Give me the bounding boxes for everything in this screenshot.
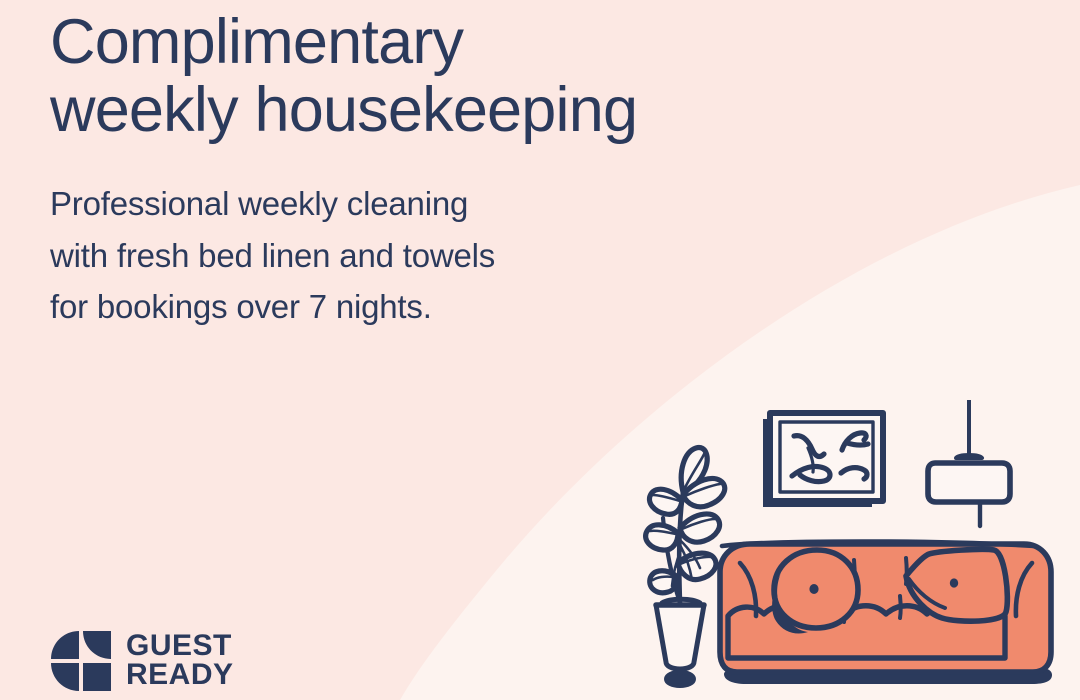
brand-wordmark: GUEST READY: [126, 632, 234, 690]
sofa-icon: [720, 542, 1052, 685]
guestready-logo-mark: [50, 630, 112, 692]
potted-plant-icon: [646, 448, 725, 686]
round-cushion-icon: [772, 550, 858, 634]
framed-wall-art-icon: [763, 413, 883, 507]
logo-line-1: GUEST: [126, 632, 234, 661]
copy-block: Complimentary weekly housekeeping Profes…: [50, 8, 690, 332]
pendant-lamp-icon: [928, 400, 1010, 526]
logo-line-2: READY: [126, 661, 234, 690]
living-room-illustration: [642, 400, 1062, 700]
brand-logo[interactable]: GUEST READY: [50, 630, 234, 692]
subtitle-text: Professional weekly cleaning with fresh …: [50, 144, 690, 332]
page-title: Complimentary weekly housekeeping: [50, 8, 690, 144]
promo-banner: Complimentary weekly housekeeping Profes…: [0, 0, 1080, 700]
